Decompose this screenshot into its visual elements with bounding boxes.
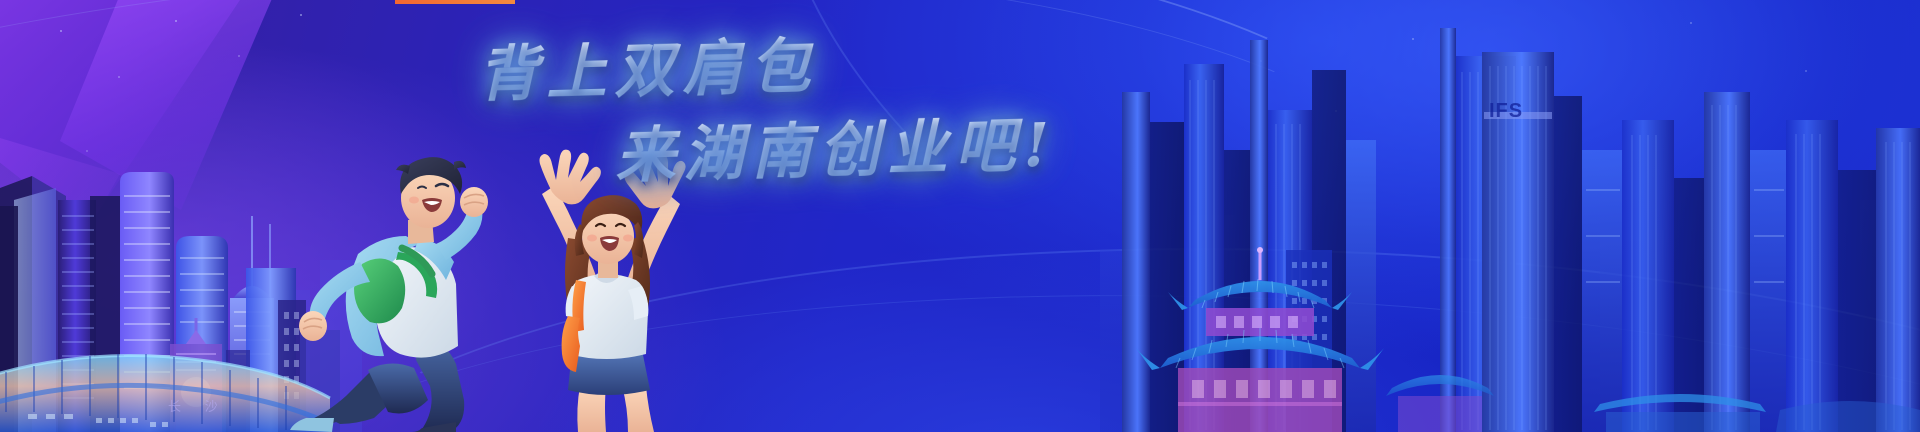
- changsha-building-sign: 长 沙: [168, 396, 228, 415]
- person-cheering-woman: [540, 150, 686, 432]
- top-accent-strip: [395, 0, 515, 4]
- promotional-banner: IFS 长 沙 背上双肩包 来湖南创业吧!: [0, 0, 1920, 432]
- people-illustration: [250, 132, 720, 432]
- ifs-tower-sign: IFS: [1489, 100, 1523, 123]
- person-running-man: [290, 157, 488, 432]
